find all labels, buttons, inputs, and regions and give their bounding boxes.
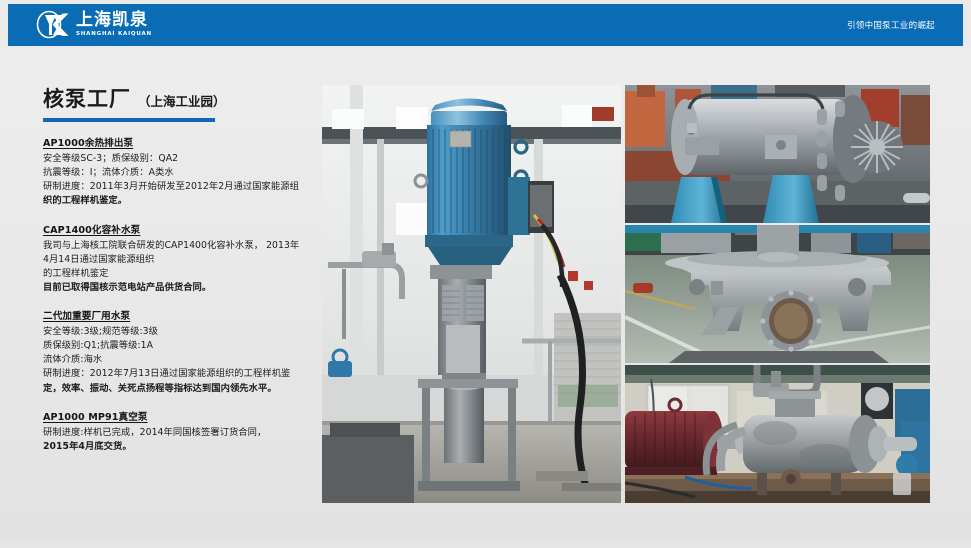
brand-logo-text: 上海凯泉 SHANGHAI KAIQUAN <box>76 12 152 38</box>
section-line: 2015年4月底交货。 <box>43 440 315 454</box>
section-line: 安全等级SC-3；质保级别：QA2 <box>43 152 315 166</box>
section-line: 研制进度：2011年3月开始研发至2012年2月通过国家能源组 <box>43 180 315 194</box>
header-slogan: 引领中国泵工业的崛起 <box>847 4 935 46</box>
section-line: 我司与上海核工院联合研发的CAP1400化容补水泵， 2013年 <box>43 239 315 253</box>
page-title: 核泵工厂 <box>43 83 131 113</box>
section-heading: AP1000余热排出泵 <box>43 135 315 149</box>
section-line: 织的工程样机鉴定。 <box>43 194 315 208</box>
slide-canvas: 上海凯泉 SHANGHAI KAIQUAN 引领中国泵工业的崛起 核泵工厂 （上… <box>0 0 971 548</box>
section-ap1000-mp91-vacuum: AP1000 MP91真空泵 研制进度:样机已完成，2014年同国核签署订货合同… <box>43 409 315 454</box>
brand-name-en: SHANGHAI KAIQUAN <box>76 32 152 37</box>
section-heading: AP1000 MP91真空泵 <box>43 409 315 423</box>
brand-logo[interactable]: 上海凯泉 SHANGHAI KAIQUAN <box>36 9 152 41</box>
section-line: 目前已取得国核示范电站产品供货合同。 <box>43 281 315 295</box>
title-underline-rule <box>43 118 215 122</box>
section-line: 抗震等级：Ⅰ；流体介质：A类水 <box>43 166 315 180</box>
brand-name-cn: 上海凯泉 <box>76 12 152 29</box>
horizontal-pump-casing-photo <box>625 85 930 223</box>
section-line: 4月14日通过国家能源组织 <box>43 253 315 267</box>
section-line: 流体介质:海水 <box>43 353 315 367</box>
page-title-row: 核泵工厂 （上海工业园） <box>43 83 315 113</box>
header-bar: 上海凯泉 SHANGHAI KAIQUAN 引领中国泵工业的崛起 <box>8 4 963 46</box>
section-line: 质保级别:Q1;抗震等级:1A <box>43 339 315 353</box>
page-subtitle: （上海工业园） <box>138 91 226 110</box>
section-gen2-essential-service-water: 二代加重要厂用水泵 安全等级:3级;规范等级:3级 质保级别:Q1;抗震等级:1… <box>43 308 315 396</box>
photo-column <box>625 85 930 503</box>
vertical-pump-motor-photo <box>322 85 621 503</box>
cast-pump-body-photo <box>625 225 930 363</box>
section-line: 研制进度:样机已完成，2014年同国核签署订货合同， <box>43 426 315 440</box>
section-cap1400-cvcs: CAP1400化容补水泵 我司与上海核工院联合研发的CAP1400化容补水泵， … <box>43 222 315 296</box>
slide-bottom-strip <box>0 540 971 548</box>
section-heading: CAP1400化容补水泵 <box>43 222 315 236</box>
kaiquan-logo-icon <box>36 10 69 40</box>
section-heading: 二代加重要厂用水泵 <box>43 308 315 322</box>
pump-test-rig-photo <box>625 365 930 503</box>
section-ap1000-rhr: AP1000余热排出泵 安全等级SC-3；质保级别：QA2 抗震等级：Ⅰ；流体介… <box>43 135 315 209</box>
section-line: 安全等级:3级;规范等级:3级 <box>43 325 315 339</box>
content-text-column: 核泵工厂 （上海工业园） AP1000余热排出泵 安全等级SC-3；质保级别：Q… <box>43 83 315 454</box>
section-line: 研制进度：2012年7月13日通过国家能源组织的工程样机鉴 <box>43 367 315 381</box>
section-line: 的工程样机鉴定 <box>43 267 315 281</box>
section-line: 定，效率、振动、关死点扬程等指标达到国内领先水平。 <box>43 382 315 396</box>
